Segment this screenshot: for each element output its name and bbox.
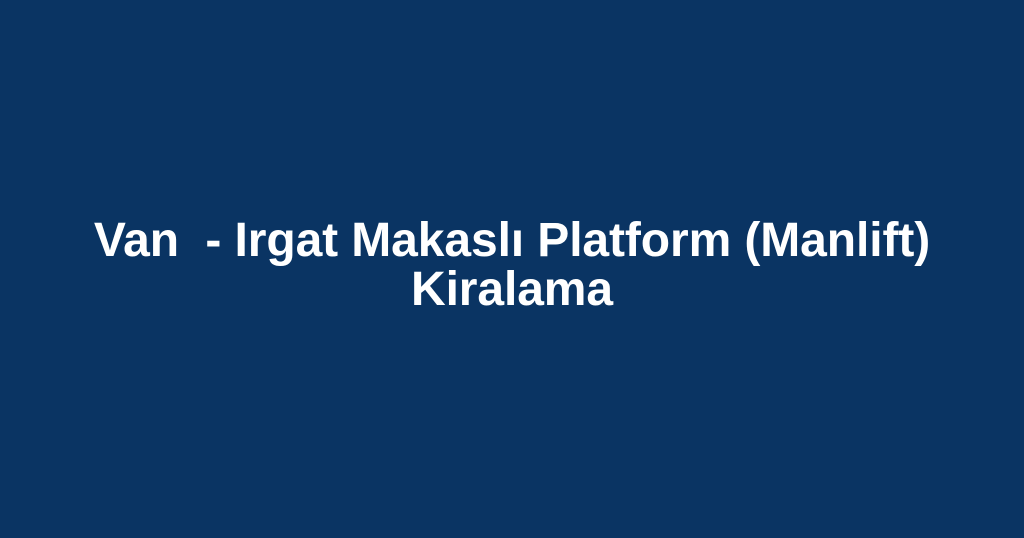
page-title: Van - Irgat Makaslı Platform (Manlift) K… <box>56 216 968 314</box>
hero-banner: Van - Irgat Makaslı Platform (Manlift) K… <box>0 0 1024 538</box>
hero-content: Van - Irgat Makaslı Platform (Manlift) K… <box>56 220 968 318</box>
